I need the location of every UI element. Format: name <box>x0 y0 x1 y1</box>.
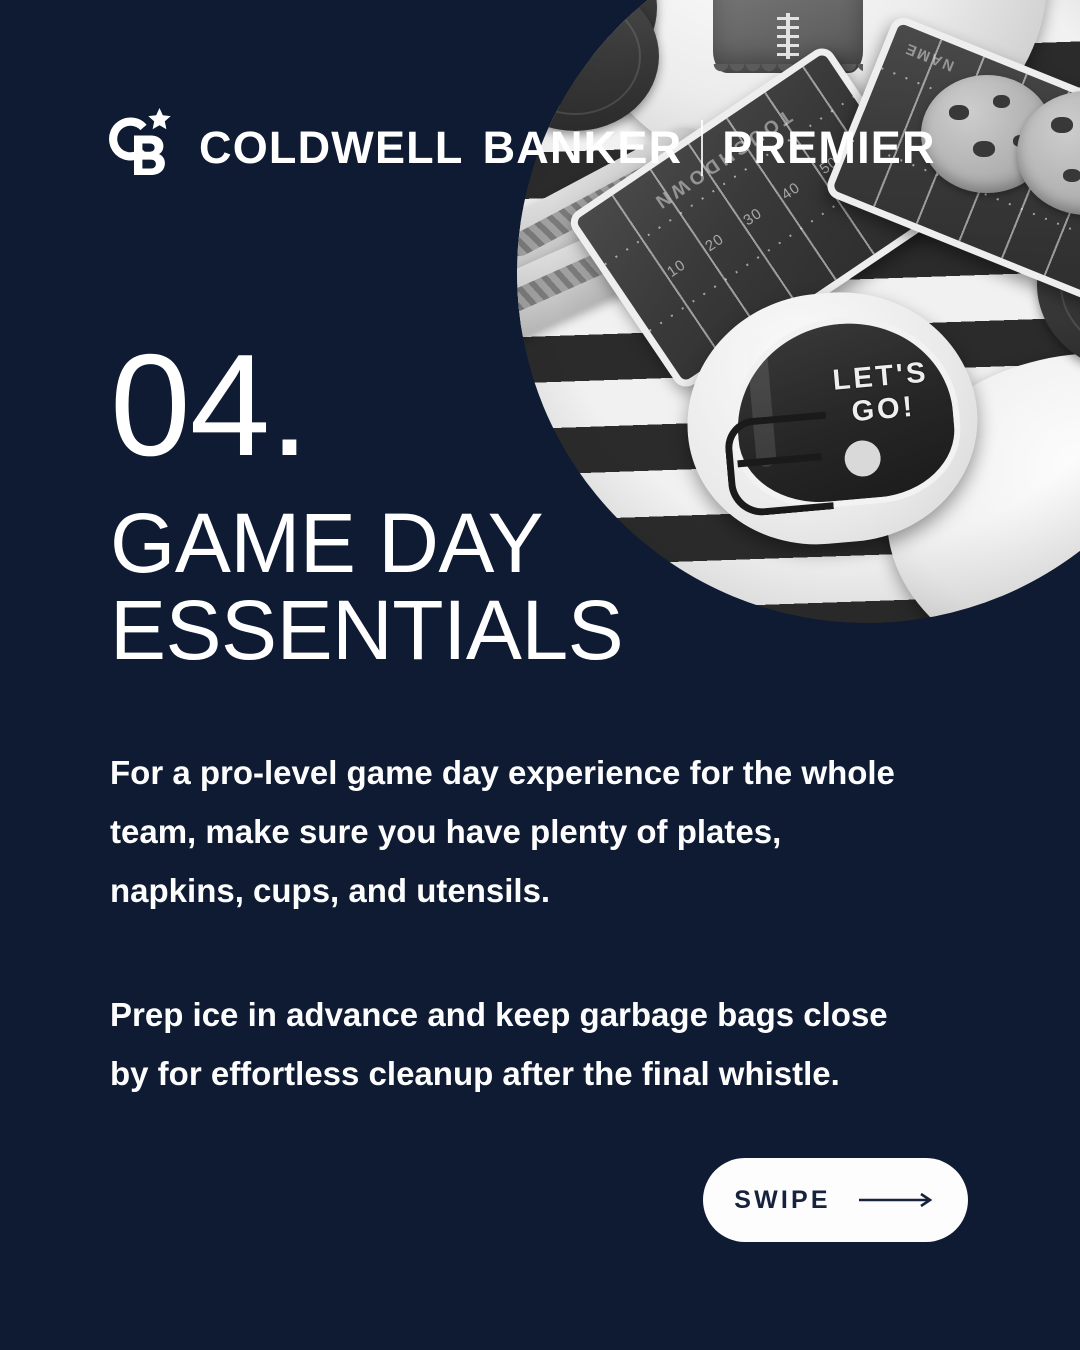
helmet-facemask <box>723 412 834 519</box>
brand-word-premier: PREMIER <box>722 122 935 174</box>
body-paragraph-1: For a pro-level game day experience for … <box>110 743 900 920</box>
brand-logo-row: COLDWELL BANKER PREMIER <box>103 108 936 188</box>
brand-word-coldwell: COLDWELL <box>199 122 464 174</box>
page-title: GAME DAY ESSENTIALS <box>110 500 623 674</box>
swipe-button[interactable]: SWIPE <box>703 1158 968 1242</box>
coldwell-banker-cb-star-logo-icon <box>103 108 177 188</box>
helmet-earhole <box>843 439 882 478</box>
swipe-button-label: SWIPE <box>734 1186 831 1215</box>
helmet-text-line-2: GO! <box>850 391 916 428</box>
football-helmet-plate: LET'SGO! <box>677 281 988 555</box>
brand-word-banker: BANKER <box>483 122 683 174</box>
football-lacing-icon <box>786 13 790 59</box>
helmet-plate-text: LET'SGO! <box>820 356 943 432</box>
snack-cup-center <box>713 0 863 73</box>
logo-divider <box>701 120 703 176</box>
slide-number: 04. <box>110 333 309 478</box>
body-paragraph-2: Prep ice in advance and keep garbage bag… <box>110 985 900 1103</box>
social-post-canvas: 10 20 30 40 50 TOUCHDOWN NAME <box>0 0 1080 1350</box>
helmet-text-line-1: LET'S <box>831 356 929 396</box>
brand-wordmark: COLDWELL BANKER PREMIER <box>199 120 936 176</box>
arrow-right-icon <box>857 1191 937 1209</box>
